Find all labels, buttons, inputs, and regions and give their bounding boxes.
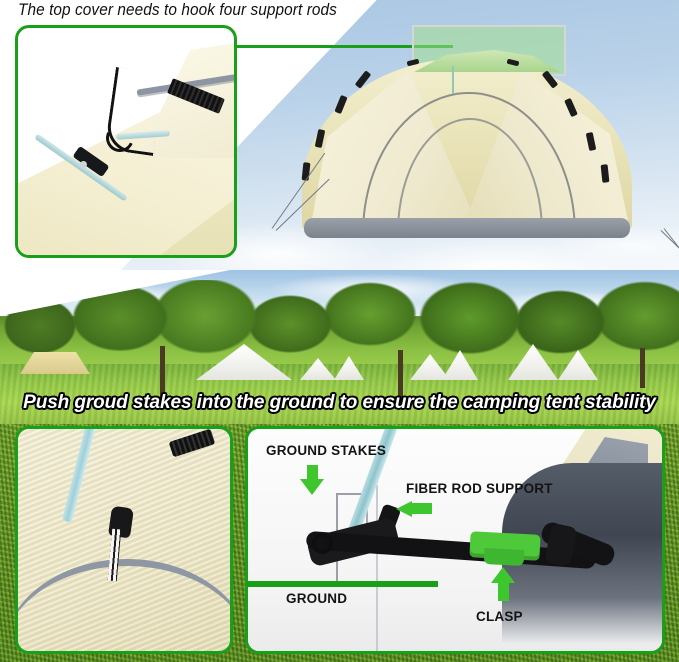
tent-illustration — [262, 20, 662, 270]
panel-top-left-hook-closeup — [15, 25, 237, 258]
panel-c-ground-line — [248, 581, 438, 587]
panel-c-reference-line — [376, 485, 378, 651]
infographic-root: The top cover needs to hook four support… — [0, 0, 679, 662]
arrow-up-stem — [498, 581, 509, 601]
label-ground: GROUND — [286, 591, 347, 606]
bottom-section: GROUND STAKES FIBER ROD SUPPORT GROUND C… — [0, 424, 679, 662]
label-clasp: CLASP — [476, 609, 523, 624]
banner-text: Push groud stakes into the ground to ens… — [0, 392, 679, 414]
photo-tree-trunk — [398, 350, 403, 398]
arrow-left-stem — [412, 503, 432, 514]
panel-c-clasp-lower — [484, 548, 525, 566]
panel-bottom-left-clasp-closeup — [15, 426, 233, 654]
label-ground-stakes: GROUND STAKES — [266, 443, 386, 458]
panel-bottom-right-stake-diagram: GROUND STAKES FIBER ROD SUPPORT GROUND C… — [245, 426, 665, 654]
ground-stakes-arrow-icon — [300, 479, 324, 495]
tent-base-band — [304, 218, 630, 238]
label-fiber-rod-support: FIBER ROD SUPPORT — [406, 481, 553, 496]
panel-c-foot-eyelet — [312, 533, 333, 554]
fiber-rod-arrow-icon — [396, 501, 412, 517]
photo-tree-trunk — [640, 348, 645, 388]
top-section: The top cover needs to hook four support… — [0, 0, 679, 272]
tent-apex-rod — [452, 66, 454, 94]
clasp-arrow-icon — [491, 567, 515, 583]
page-title: The top cover needs to hook four support… — [18, 0, 337, 20]
